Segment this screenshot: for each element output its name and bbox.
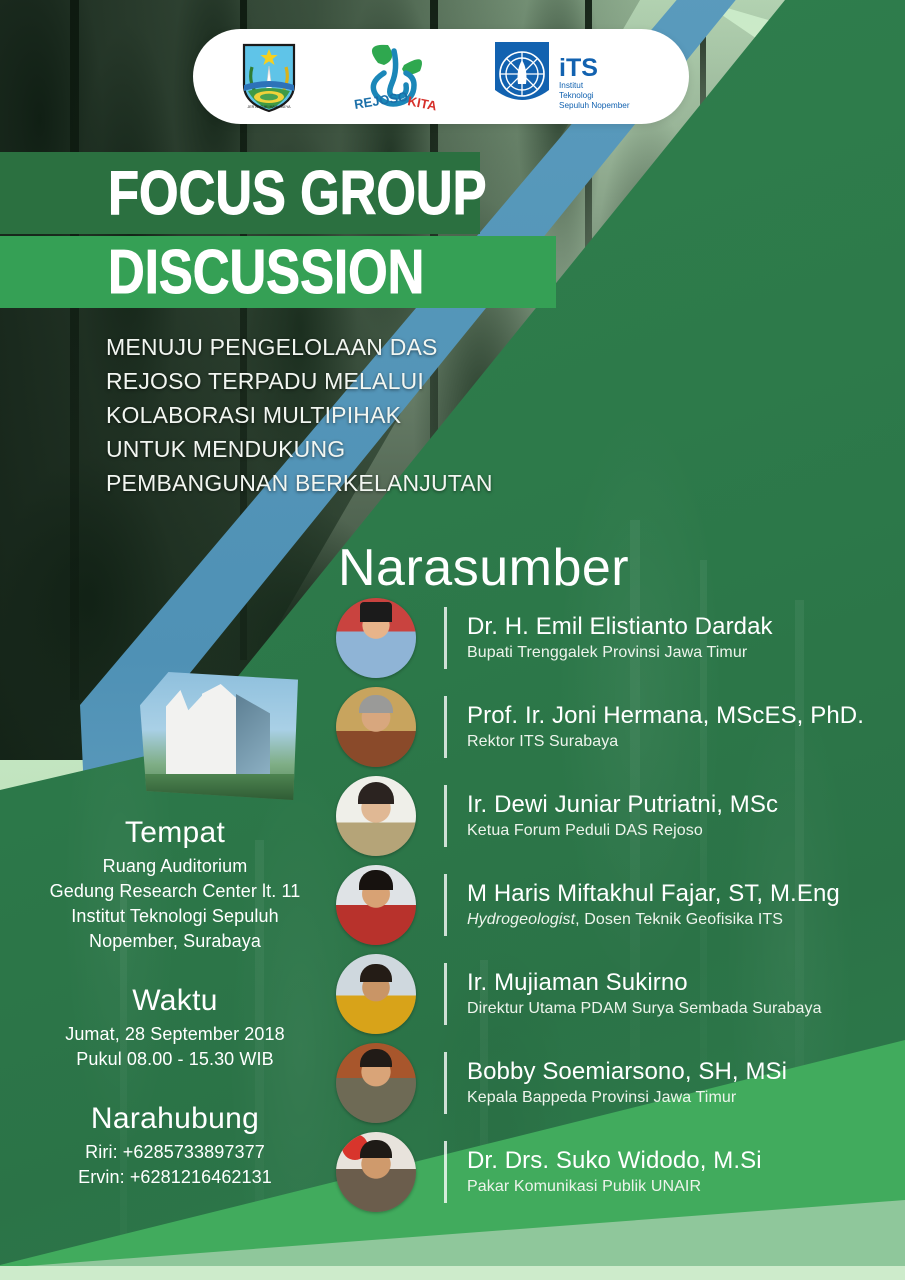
svg-text:JER BASUKI MAWA BEYA: JER BASUKI MAWA BEYA	[247, 105, 291, 109]
subtitle-line: PEMBANGUNAN BERKELANJUTAN	[106, 466, 576, 500]
speaker-item: Dr. Drs. Suko Widodo, M.Si Pakar Komunik…	[336, 1128, 896, 1216]
speaker-role: Kepala Bappeda Provinsi Jawa Timur	[467, 1087, 787, 1109]
speaker-divider	[444, 1052, 447, 1114]
contact-heading: Narahubung	[20, 1098, 330, 1140]
speaker-avatar	[336, 954, 416, 1034]
speaker-divider	[444, 696, 447, 758]
time-heading: Waktu	[20, 980, 330, 1022]
speaker-role: Hydrogeologist, Dosen Teknik Geofisika I…	[467, 909, 840, 931]
svg-text:Sepuluh Nopember: Sepuluh Nopember	[559, 101, 630, 110]
speaker-role: Pakar Komunikasi Publik UNAIR	[467, 1176, 762, 1198]
speaker-item: M Haris Miftakhul Fajar, ST, M.Eng Hydro…	[336, 861, 896, 949]
subtitle-line: KOLABORASI MULTIPIHAK	[106, 398, 576, 432]
venue-line: Ruang Auditorium	[20, 854, 330, 879]
building-tower-left	[166, 690, 202, 782]
speaker-avatar	[336, 776, 416, 856]
subtitle-line: REJOSO TERPADU MELALUI	[106, 364, 576, 398]
svg-text:Teknologi: Teknologi	[559, 91, 594, 100]
speaker-name: Dr. H. Emil Elistianto Dardak	[467, 612, 773, 642]
event-info-column: Tempat Ruang Auditorium Gedung Research …	[20, 812, 330, 1190]
speakers-heading: Narasumber	[338, 538, 629, 598]
its-research-center-building-photo	[140, 672, 298, 800]
contact-block: Narahubung Riri: +6285733897377 Ervin: +…	[20, 1098, 330, 1190]
venue-line: Gedung Research Center lt. 11	[20, 879, 330, 904]
poster-title-line-1: FOCUS GROUP	[108, 160, 487, 228]
speaker-item: Bobby Soemiarsono, SH, MSi Kepala Bapped…	[336, 1039, 896, 1127]
bottom-edge-strip	[0, 1266, 905, 1280]
speaker-avatar	[336, 865, 416, 945]
speaker-role: Ketua Forum Peduli DAS Rejoso	[467, 820, 778, 842]
building-glass-facade	[236, 694, 270, 782]
speaker-avatar	[336, 687, 416, 767]
speaker-role: Direktur Utama PDAM Surya Sembada Suraba…	[467, 998, 822, 1020]
venue-heading: Tempat	[20, 812, 330, 854]
svg-text:Institut: Institut	[559, 81, 584, 90]
time-block: Waktu Jumat, 28 September 2018 Pukul 08.…	[20, 980, 330, 1072]
venue-line: Nopember, Surabaya	[20, 929, 330, 954]
speaker-item: Prof. Ir. Joni Hermana, MScES, PhD. Rekt…	[336, 683, 896, 771]
poster-title-line-2: DISCUSSION	[108, 240, 424, 306]
speaker-name: Dr. Drs. Suko Widodo, M.Si	[467, 1146, 762, 1176]
svg-text:REJOSO: REJOSO	[353, 88, 409, 111]
tree-trunk-decor	[70, 0, 79, 700]
building-tower-right	[202, 684, 236, 782]
east-java-province-emblem-icon: JER BASUKI MAWA BEYA	[238, 41, 300, 113]
poster-subtitle: MENUJU PENGELOLAAN DAS REJOSO TERPADU ME…	[106, 330, 576, 500]
speaker-divider	[444, 963, 447, 1025]
speaker-name: Ir. Mujiaman Sukirno	[467, 968, 822, 998]
speaker-avatar	[336, 1043, 416, 1123]
time-line: Pukul 08.00 - 15.30 WIB	[20, 1047, 330, 1072]
venue-block: Tempat Ruang Auditorium Gedung Research …	[20, 812, 330, 954]
speakers-list: Dr. H. Emil Elistianto Dardak Bupati Tre…	[336, 594, 896, 1217]
venue-line: Institut Teknologi Sepuluh	[20, 904, 330, 929]
contact-line: Ervin: +6281216462131	[20, 1165, 330, 1190]
svg-text:KITA: KITA	[406, 93, 438, 113]
time-line: Jumat, 28 September 2018	[20, 1022, 330, 1047]
speaker-item: Ir. Mujiaman Sukirno Direktur Utama PDAM…	[336, 950, 896, 1038]
poster-root: JER BASUKI MAWA BEYA REJOSO KITA	[0, 0, 905, 1280]
speaker-divider	[444, 607, 447, 669]
speaker-divider	[444, 785, 447, 847]
speaker-item: Ir. Dewi Juniar Putriatni, MSc Ketua For…	[336, 772, 896, 860]
speaker-name: Bobby Soemiarsono, SH, MSi	[467, 1057, 787, 1087]
speaker-role-rest: , Dosen Teknik Geofisika ITS	[575, 911, 783, 928]
speaker-name: Prof. Ir. Joni Hermana, MScES, PhD.	[467, 701, 864, 731]
contact-line: Riri: +6285733897377	[20, 1140, 330, 1165]
speaker-avatar	[336, 598, 416, 678]
speaker-item: Dr. H. Emil Elistianto Dardak Bupati Tre…	[336, 594, 896, 682]
speaker-divider	[444, 1141, 447, 1203]
logo-header-card: JER BASUKI MAWA BEYA REJOSO KITA	[193, 29, 689, 124]
speaker-avatar	[336, 1132, 416, 1212]
speaker-role: Bupati Trenggalek Provinsi Jawa Timur	[467, 642, 773, 664]
its-logo-icon: iTS Institut Teknologi Sepuluh Nopember	[493, 40, 645, 114]
svg-text:iTS: iTS	[559, 54, 598, 82]
speaker-role: Rektor ITS Surabaya	[467, 731, 864, 753]
subtitle-line: MENUJU PENGELOLAAN DAS	[106, 330, 576, 364]
speaker-name: M Haris Miftakhul Fajar, ST, M.Eng	[467, 879, 840, 909]
speaker-role-italic: Hydrogeologist	[467, 911, 575, 928]
speaker-name: Ir. Dewi Juniar Putriatni, MSc	[467, 790, 778, 820]
speaker-divider	[444, 874, 447, 936]
rejoso-kita-logo-icon: REJOSO KITA	[344, 39, 448, 115]
subtitle-line: UNTUK MENDUKUNG	[106, 432, 576, 466]
